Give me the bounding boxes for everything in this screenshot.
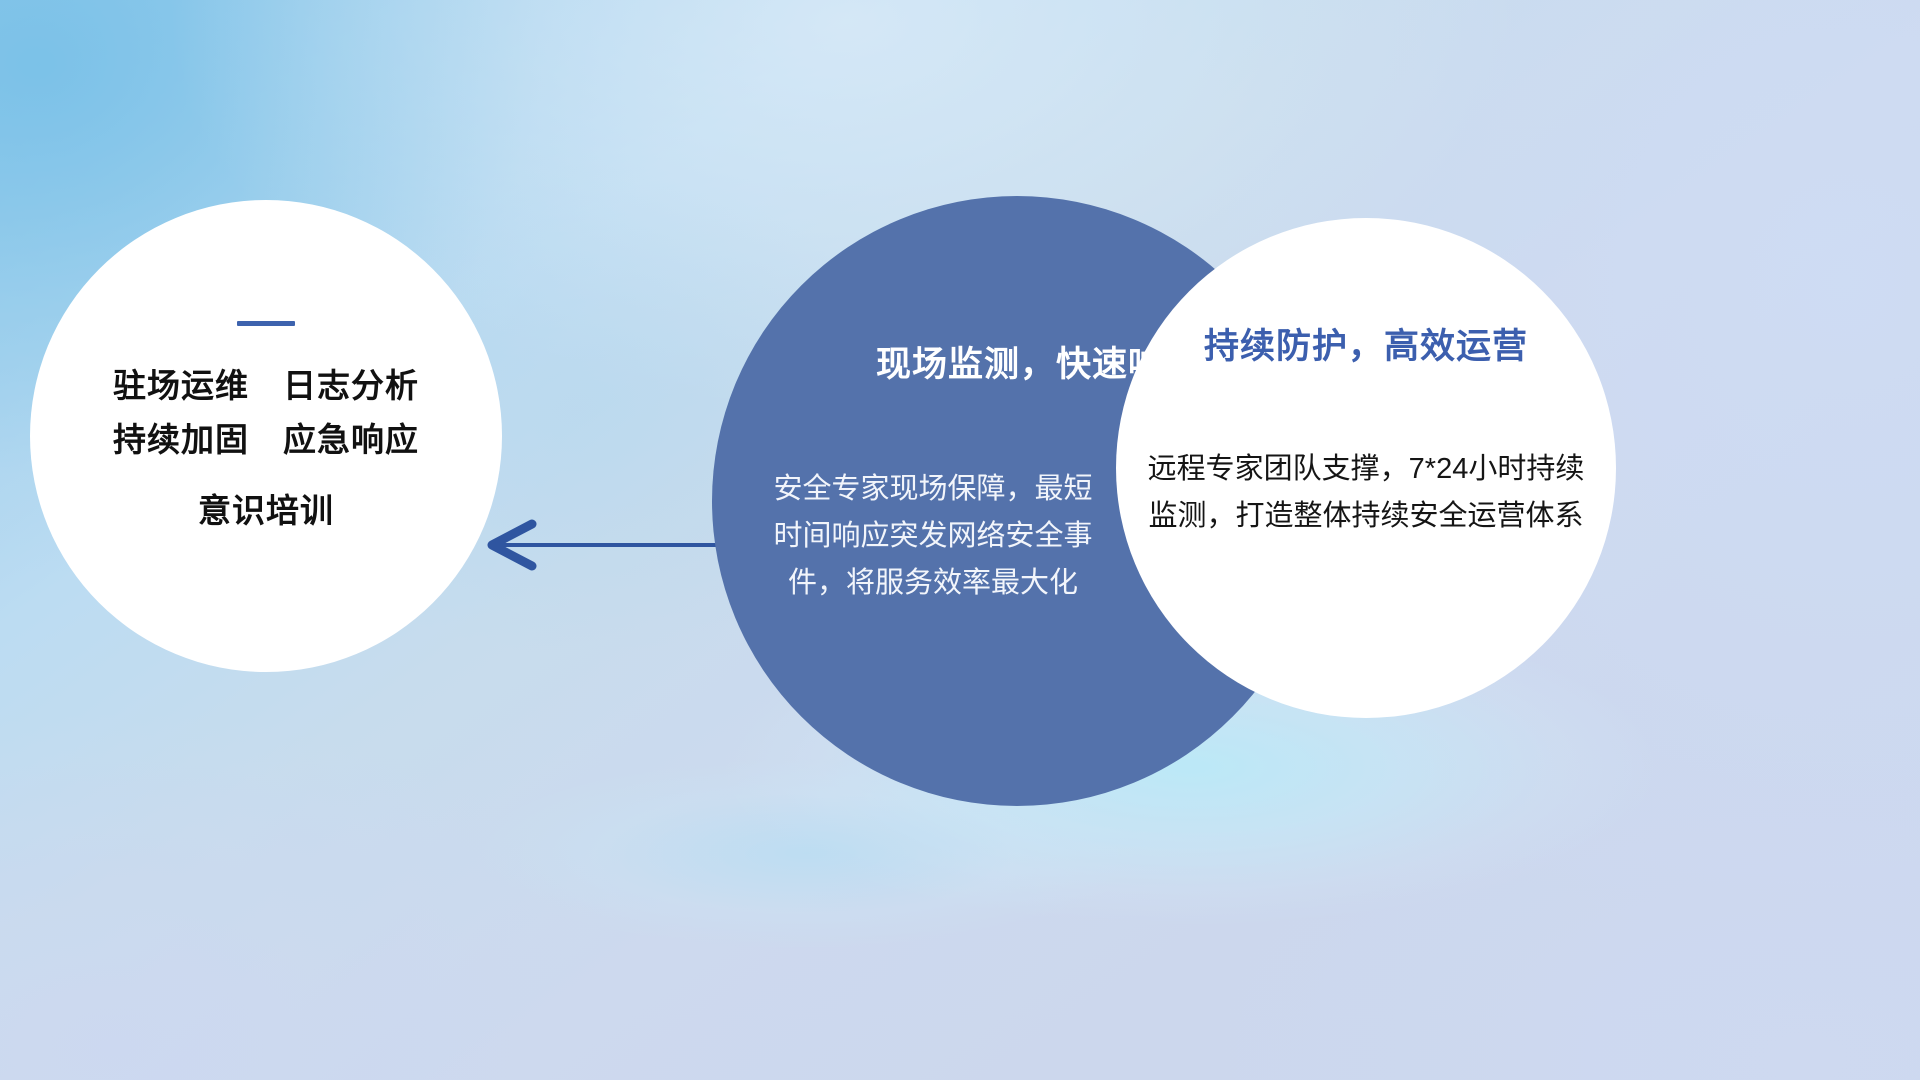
service-tag: 日志分析: [283, 368, 419, 404]
service-tag: 驻场运维: [113, 368, 249, 404]
service-tag: 应急响应: [283, 422, 419, 458]
slide-canvas: 现场监测，快速响应 安全专家现场保障，最短时间响应突发网络安全事件，将服务效率最…: [0, 0, 1920, 1080]
service-capability-list: 驻场运维 日志分析 持续加固 应急响应 意识培训: [113, 368, 419, 529]
service-capability-row: 驻场运维 日志分析: [113, 368, 419, 404]
continuous-protection-content: 持续防护，高效运营 远程专家团队支撑，7*24小时持续监测，打造整体持续安全运营…: [1116, 218, 1616, 718]
service-capability-row: 意识培训: [198, 493, 334, 529]
service-capability-row: 持续加固 应急响应: [113, 422, 419, 458]
continuous-protection-body: 远程专家团队支撑，7*24小时持续监测，打造整体持续安全运营体系: [1140, 446, 1592, 540]
onsite-monitoring-body: 安全专家现场保障，最短时间响应突发网络安全事件，将服务效率最大化: [768, 466, 1098, 607]
service-tag: 持续加固: [113, 422, 249, 458]
service-tag: 意识培训: [198, 493, 334, 529]
title-divider-dash: [237, 321, 295, 326]
service-capability-content: 驻场运维 日志分析 持续加固 应急响应 意识培训: [30, 200, 502, 672]
continuous-protection-title: 持续防护，高效运营: [1116, 318, 1616, 369]
